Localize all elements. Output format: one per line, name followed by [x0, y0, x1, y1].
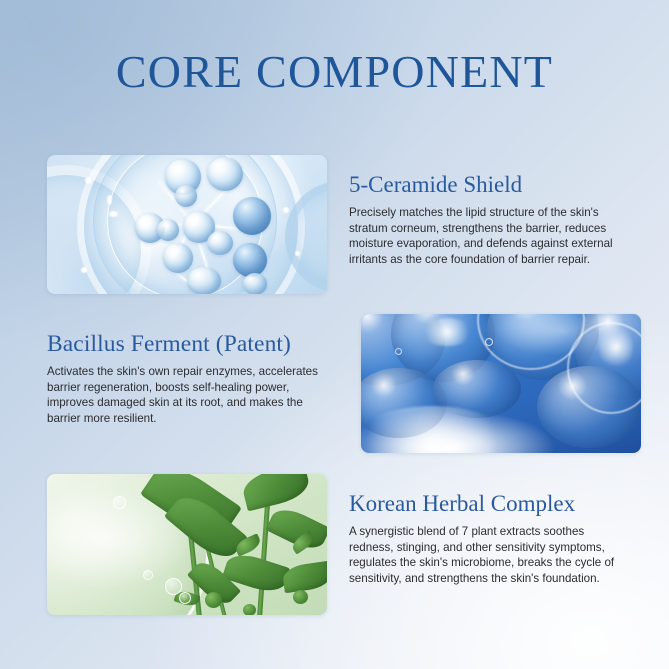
poster-canvas: CORE COMPONENT — [0, 0, 669, 669]
water-sparkle — [85, 177, 92, 184]
water-sparkle — [81, 267, 87, 273]
molecule-in-water-photo — [47, 155, 327, 294]
liquid-bubble — [179, 592, 191, 604]
plant-seed-dot — [293, 590, 308, 604]
water-sparkle — [109, 211, 118, 217]
section-body: Activates the skin's own repair enzymes,… — [47, 364, 323, 426]
plant-seed-dot — [205, 592, 222, 608]
liquid-bubble — [113, 496, 126, 509]
plant-seed-dot — [243, 604, 256, 615]
micro-bubble — [485, 338, 493, 346]
green-herbs-photo — [47, 474, 327, 615]
section-heading: Bacillus Ferment (Patent) — [47, 330, 329, 358]
water-sparkle — [107, 195, 112, 205]
section-copy-herbal: Korean Herbal Complex A synergistic blen… — [327, 474, 627, 586]
plant-stem — [257, 490, 271, 615]
blue-bubbles-photo — [361, 314, 641, 453]
molecule-atom — [163, 243, 193, 273]
molecule-atom — [207, 231, 233, 255]
water-sparkle — [295, 251, 300, 256]
fern-frond — [281, 561, 327, 593]
bubble-specular-glow — [599, 324, 633, 370]
page-title: CORE COMPONENT — [0, 44, 669, 100]
water-sparkle — [283, 207, 289, 213]
molecule-atom — [233, 243, 267, 277]
section-row-ceramide: 5-Ceramide Shield Precisely matches the … — [47, 155, 627, 294]
section-copy-ceramide: 5-Ceramide Shield Precisely matches the … — [327, 155, 627, 267]
section-body: A synergistic blend of 7 plant extracts … — [349, 524, 621, 586]
molecule-atom — [157, 219, 179, 241]
section-body: Precisely matches the lipid structure of… — [349, 205, 621, 267]
molecule-atom — [175, 185, 197, 207]
molecule-atom — [243, 273, 267, 294]
liquid-bubble — [143, 570, 153, 580]
section-copy-bacillus: Bacillus Ferment (Patent) Activates the … — [47, 314, 345, 426]
section-row-bacillus: Bacillus Ferment (Patent) Activates the … — [47, 314, 627, 453]
liquid-bubble — [165, 578, 182, 595]
bubble-specular-glow — [419, 318, 475, 346]
molecule-atom — [207, 157, 243, 191]
molecule-atom — [233, 197, 271, 235]
section-row-herbal: Korean Herbal Complex A synergistic blen… — [47, 474, 627, 615]
micro-bubble — [395, 348, 402, 355]
molecule-atom — [187, 267, 221, 294]
section-heading: Korean Herbal Complex — [349, 490, 627, 518]
section-heading: 5-Ceramide Shield — [349, 171, 627, 199]
fern-frond — [240, 474, 312, 511]
